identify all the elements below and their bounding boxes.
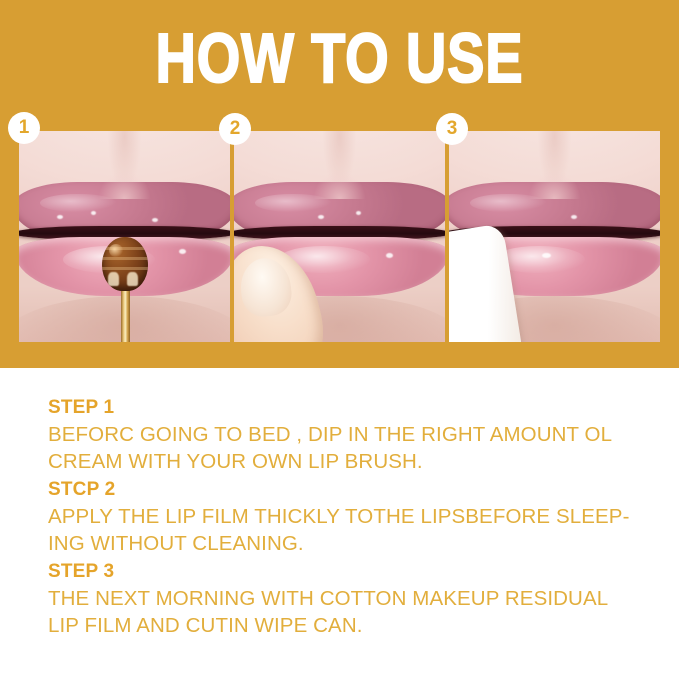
step-3-label: STEP 3 <box>48 559 648 585</box>
gloss-highlight <box>91 211 96 215</box>
step-3-body: THE NEXT MORNING WITH COTTON MAKEUP RESI… <box>48 585 648 639</box>
step-2-body: APPLY THE LIP FILM THICKLY TOTHE LIPSBEF… <box>48 503 648 557</box>
instruction-step-3: STEP 3 THE NEXT MORNING WITH COTTON MAKE… <box>48 559 648 639</box>
wand-notch <box>108 272 119 286</box>
step-image-3 <box>449 131 660 342</box>
step-2-label: STCP 2 <box>48 477 648 503</box>
lip-wand-applicator-icon <box>102 237 148 291</box>
cupids-bow-highlight <box>529 171 580 198</box>
instruction-step-2: STCP 2 APPLY THE LIP FILM THICKLY TOTHE … <box>48 477 648 557</box>
cupids-bow-highlight <box>314 171 365 198</box>
step-1-body: BEFORC GOING TO BED , DIP IN THE RIGHT A… <box>48 421 648 475</box>
instruction-step-1: STEP 1 BEFORC GOING TO BED , DIP IN THE … <box>48 395 648 475</box>
gloss-highlight <box>152 218 158 222</box>
wand-ridge <box>102 267 148 270</box>
step-badge-2: 2 <box>219 113 251 145</box>
wand-ridge <box>102 257 148 260</box>
instructions-list: STEP 1 BEFORC GOING TO BED , DIP IN THE … <box>48 395 648 641</box>
how-to-use-panel-row <box>19 131 660 342</box>
step-1-label: STEP 1 <box>48 395 648 421</box>
wand-notch <box>127 272 138 286</box>
step-image-2 <box>234 131 445 342</box>
fingernail <box>238 255 294 318</box>
step-badge-3: 3 <box>436 113 468 145</box>
cupids-bow-highlight <box>99 171 150 198</box>
wand-ridge <box>102 247 148 250</box>
step-image-1 <box>19 131 230 342</box>
page-title: HOW TO USE <box>68 22 611 94</box>
step-badge-1: 1 <box>8 112 40 144</box>
